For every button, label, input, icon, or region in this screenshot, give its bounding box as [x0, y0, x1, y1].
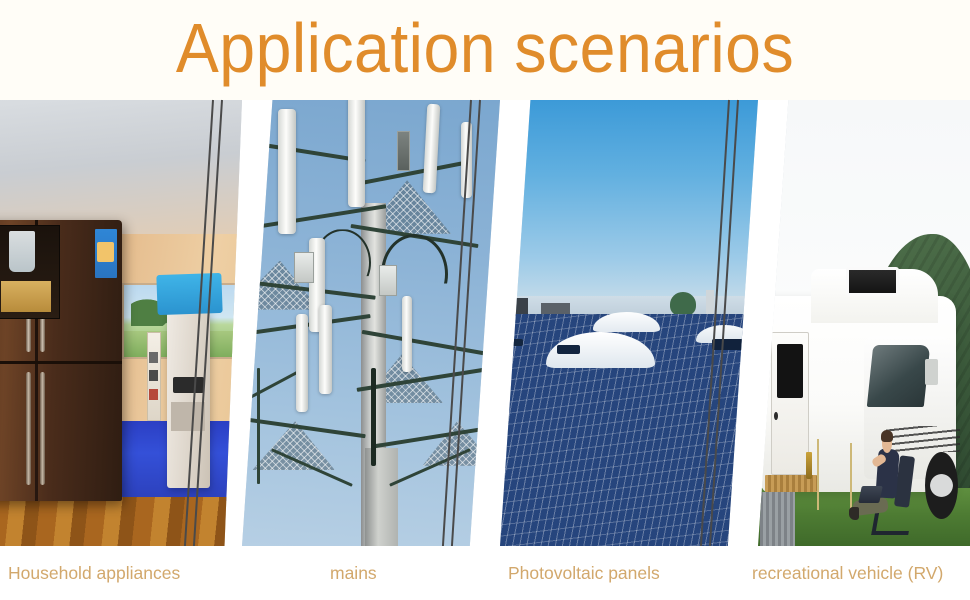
panel-antenna	[319, 305, 332, 394]
tower-monopole-base	[365, 448, 399, 546]
fridge-mid-seam	[0, 361, 122, 364]
rru-unit	[397, 131, 410, 171]
scenario-panel-strip	[0, 100, 970, 546]
roof-vent	[712, 339, 743, 351]
slide-canvas: Application scenarios	[0, 0, 970, 600]
panel-antenna	[348, 100, 365, 207]
sky	[500, 100, 758, 314]
cooler-box	[760, 492, 795, 546]
rru-unit	[294, 252, 315, 283]
dispenser-tray	[1, 281, 51, 312]
caption-photovoltaic-panels: Photovoltaic panels	[508, 546, 660, 600]
page-title-container: Application scenarios	[0, 0, 970, 100]
caption-mains: mains	[330, 546, 377, 600]
laptop	[859, 486, 884, 503]
purifier-screen	[173, 377, 204, 393]
promo-banner	[156, 273, 222, 315]
scenario-image-photovoltaic-panels[interactable]	[500, 100, 758, 546]
caption-recreational-vehicle: recreational vehicle (RV)	[752, 546, 943, 600]
bottle	[806, 452, 812, 479]
distant-building	[541, 303, 569, 315]
panel-antenna	[402, 296, 412, 372]
wood-floor	[0, 497, 242, 546]
roof-vent	[557, 345, 580, 354]
scenario-image-household-appliances[interactable]	[0, 100, 242, 546]
rru-unit	[379, 265, 397, 296]
side-mirror	[925, 359, 938, 386]
panel-antenna	[242, 243, 252, 305]
distant-tower	[706, 290, 714, 317]
person-shoe	[849, 507, 859, 520]
distant-tree	[670, 292, 696, 317]
energy-label	[95, 229, 118, 278]
entry-door	[771, 332, 808, 475]
water-dispenser	[0, 225, 60, 319]
solar-array-photo	[500, 100, 758, 546]
floor-sign	[147, 332, 161, 421]
page-title: Application scenarios	[176, 13, 794, 87]
household-appliances-photo	[0, 100, 242, 546]
dispenser-glass	[9, 231, 34, 271]
cable-riser	[371, 368, 376, 466]
rv-photo	[758, 100, 970, 546]
person-hair	[881, 430, 893, 442]
roof-vent	[508, 339, 523, 346]
awning-pole	[850, 443, 852, 510]
awning-pole	[817, 439, 819, 510]
scenario-image-mains[interactable]	[242, 100, 500, 546]
caption-household-appliances: Household appliances	[8, 546, 180, 600]
scenario-image-recreational-vehicle[interactable]	[758, 100, 970, 546]
person-with-laptop	[855, 430, 925, 537]
caption-row: Household appliances mains Photovoltaic …	[0, 546, 970, 600]
panel-antenna	[296, 314, 308, 412]
panel-antenna	[278, 109, 296, 234]
cell-tower-photo	[242, 100, 500, 546]
windshield	[867, 345, 931, 407]
roof-vent-hatch	[846, 267, 899, 296]
